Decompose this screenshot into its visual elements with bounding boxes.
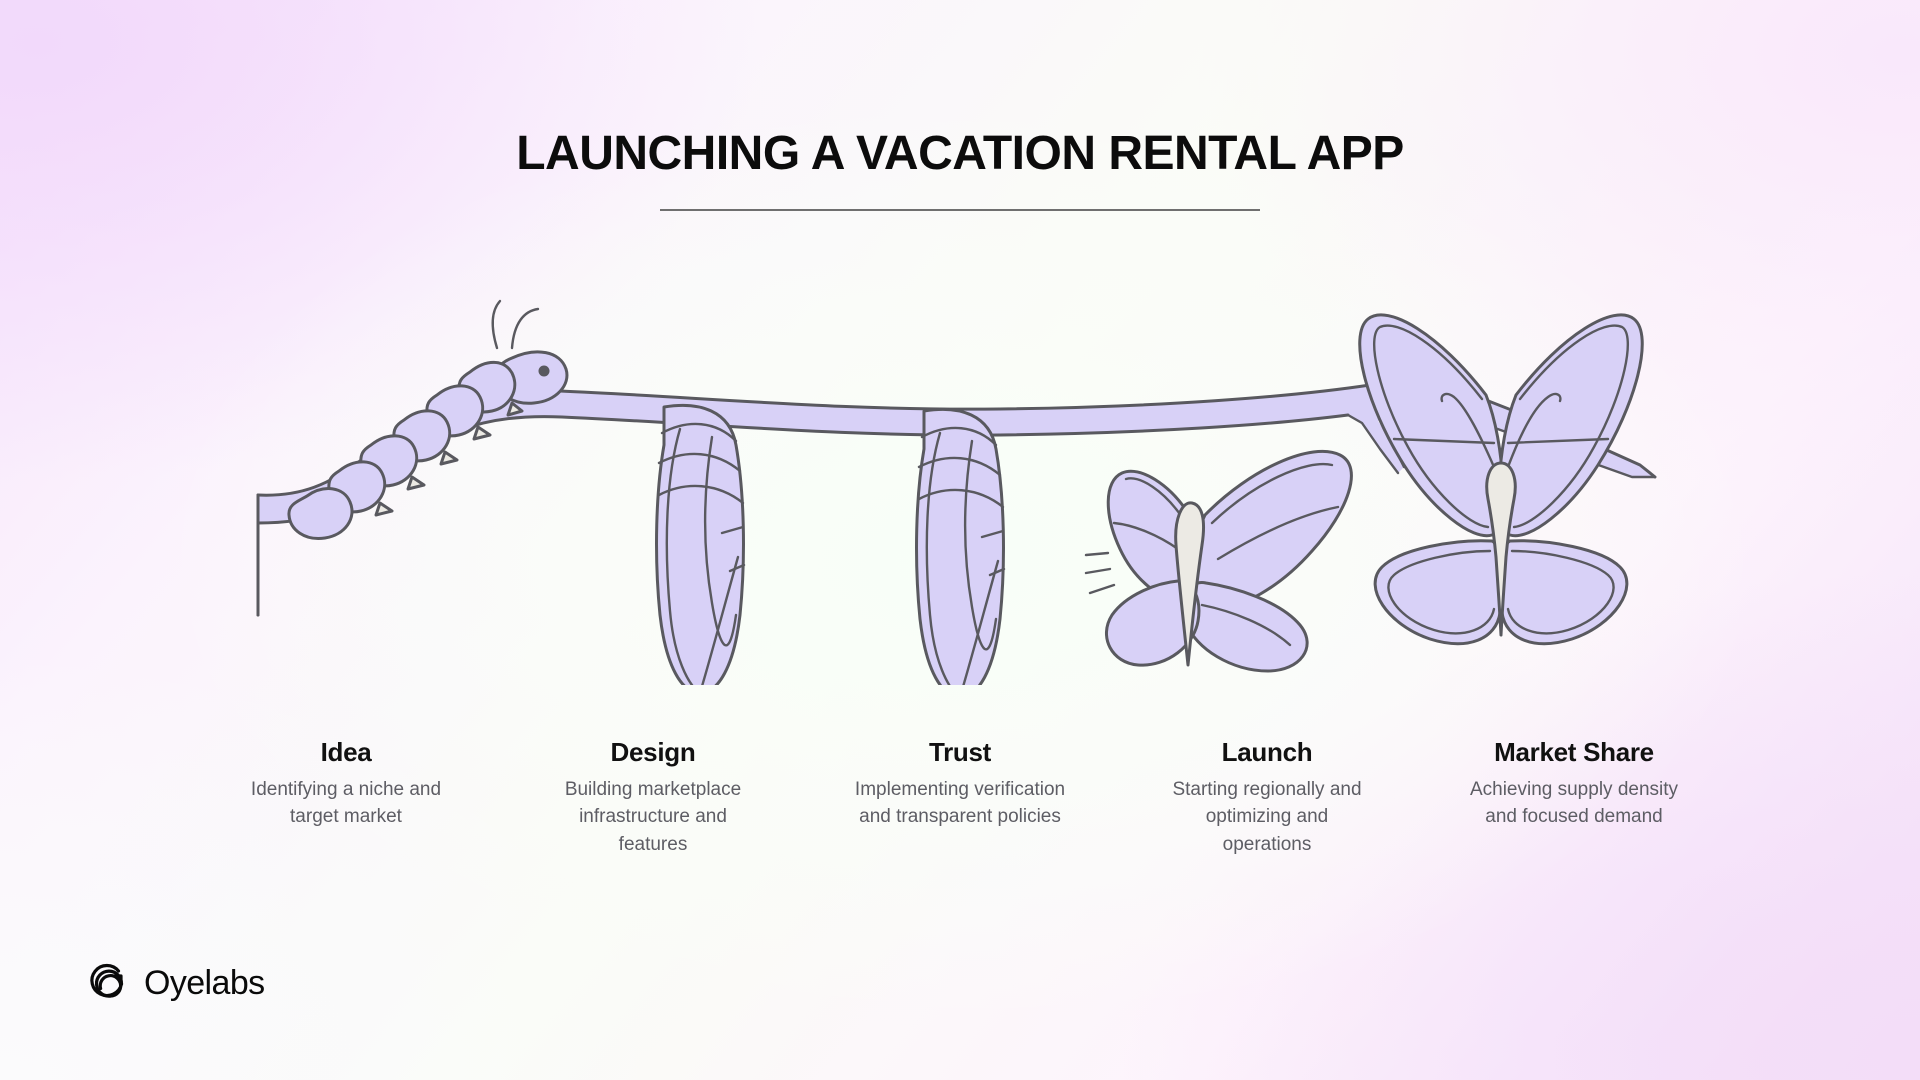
brand-logo: Oyelabs bbox=[88, 962, 265, 1004]
stage-item-trust: Trust Implementing verification and tran… bbox=[854, 738, 1066, 831]
stage-item-launch: Launch Starting regionally and optimizin… bbox=[1161, 738, 1373, 859]
stage-item-design: Design Building marketplace infrastructu… bbox=[547, 738, 759, 859]
caterpillar-figure bbox=[289, 301, 567, 538]
title-underline bbox=[660, 209, 1260, 211]
page-title: LAUNCHING A VACATION RENTAL APP bbox=[0, 128, 1920, 181]
stage-list: Idea Identifying a niche and target mark… bbox=[240, 738, 1680, 859]
caterpillar-eye bbox=[539, 366, 550, 377]
stage-title-trust: Trust bbox=[854, 738, 1066, 768]
title-block: LAUNCHING A VACATION RENTAL APP bbox=[0, 128, 1920, 211]
chrysalis-left-figure bbox=[657, 405, 744, 685]
stage-desc-market-share: Achieving supply density and focused dem… bbox=[1468, 776, 1680, 831]
full-butterfly-figure bbox=[1360, 315, 1643, 644]
stage-title-launch: Launch bbox=[1161, 738, 1373, 768]
stage-title-design: Design bbox=[547, 738, 759, 768]
brand-logo-text: Oyelabs bbox=[144, 966, 265, 1000]
butterfly-lifecycle-illustration: .fill { fill: #d8d1f7; } .fillL { fill: … bbox=[0, 215, 1920, 685]
stage-title-market-share: Market Share bbox=[1468, 738, 1680, 768]
chrysalis-middle-figure bbox=[917, 409, 1004, 685]
stage-desc-idea: Identifying a niche and target market bbox=[240, 776, 452, 831]
stage-item-market-share: Market Share Achieving supply density an… bbox=[1468, 738, 1680, 831]
oyelabs-mark-icon bbox=[88, 962, 130, 1004]
stage-desc-trust: Implementing verification and transparen… bbox=[854, 776, 1066, 831]
stage-title-idea: Idea bbox=[240, 738, 452, 768]
stage-item-idea: Idea Identifying a niche and target mark… bbox=[240, 738, 452, 831]
emerging-butterfly-figure bbox=[1086, 451, 1351, 671]
stage-desc-launch: Starting regionally and optimizing and o… bbox=[1161, 776, 1373, 859]
infographic-canvas: LAUNCHING A VACATION RENTAL APP .fill { … bbox=[0, 0, 1920, 1080]
stage-desc-design: Building marketplace infrastructure and … bbox=[547, 776, 759, 859]
